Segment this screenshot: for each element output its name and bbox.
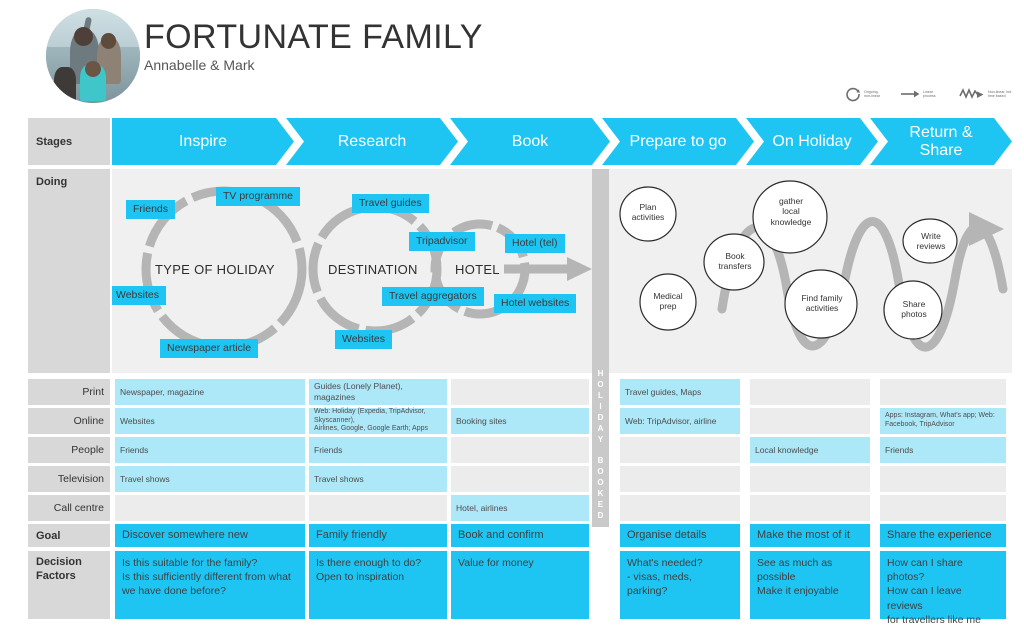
source-cell[interactable]: Hotel, airlines xyxy=(451,495,589,521)
sources-channel-online: Online xyxy=(28,408,110,434)
legend-item-nonlinear-timed: Non-linear, but time based xyxy=(959,87,1014,101)
stage-prepare-to-go[interactable]: Prepare to go xyxy=(602,118,754,165)
legend-label: Ongoing, non-linear xyxy=(864,90,890,99)
source-cell[interactable] xyxy=(750,379,870,405)
sources-channel-call-centre: Call centre xyxy=(28,495,110,521)
divider-letter: O xyxy=(597,466,603,477)
doing-panel: TYPE OF HOLIDAY DESTINATION HOTEL Friend… xyxy=(112,169,1012,373)
stage-label: Return & Share xyxy=(909,124,972,159)
divider-letter: K xyxy=(598,488,604,499)
source-cell[interactable] xyxy=(880,379,1006,405)
decision-factor-cell[interactable]: Is there enough to do? Open to inspirati… xyxy=(309,551,447,619)
divider-letter: H xyxy=(598,368,604,379)
legend-item-ongoing: Ongoing, non-linear xyxy=(845,86,890,102)
stage-label: Book xyxy=(512,133,548,151)
divider-letter: E xyxy=(598,499,603,510)
row-label-doing: Doing xyxy=(28,169,110,373)
divider-letter: D xyxy=(598,412,604,423)
row-label-goal: Goal xyxy=(28,524,110,547)
divider-letter: I xyxy=(599,401,601,412)
goal-cell[interactable]: Make the most of it xyxy=(750,524,870,547)
stage-inspire[interactable]: Inspire xyxy=(112,118,294,165)
goal-cell[interactable]: Discover somewhere new xyxy=(115,524,305,547)
decision-factor-cell[interactable]: Is this suitable for the family? Is this… xyxy=(115,551,305,619)
source-cell[interactable] xyxy=(880,495,1006,521)
wavy-arrow-icon xyxy=(959,87,985,101)
sources-channel-people: People xyxy=(28,437,110,463)
source-cell[interactable]: Local knowledge xyxy=(750,437,870,463)
source-cell[interactable]: Web: Holiday (Expedia, TripAdvisor, Skys… xyxy=(309,408,447,434)
row-label-stages: Stages xyxy=(28,118,110,165)
stage-label: Prepare to go xyxy=(630,133,727,151)
decision-factor-cell[interactable]: Value for money xyxy=(451,551,589,619)
stage-return-and-share[interactable]: Return & Share xyxy=(870,118,1012,165)
page-header: FORTUNATE FAMILY Annabelle & Mark Ongoin… xyxy=(0,0,1024,112)
legend: Ongoing, non-linear Linear process Non-l… xyxy=(845,86,1014,102)
holiday-booked-divider: H O L I D A Y B O O K E D xyxy=(592,169,609,527)
divider-letter: O xyxy=(597,477,603,488)
source-cell[interactable]: Newspaper, magazine xyxy=(115,379,305,405)
source-cell[interactable] xyxy=(115,495,305,521)
stage-label: Research xyxy=(338,133,406,151)
divider-letter: L xyxy=(598,390,603,401)
circular-arrow-icon xyxy=(845,86,861,102)
source-cell[interactable]: Websites xyxy=(115,408,305,434)
decision-factor-cell[interactable]: What's needed? - visas, meds, parking? xyxy=(620,551,740,619)
stage-on-holiday[interactable]: On Holiday xyxy=(746,118,878,165)
divider-letter: O xyxy=(597,379,603,390)
stage-label: On Holiday xyxy=(772,133,851,151)
source-cell[interactable] xyxy=(451,466,589,492)
source-cell[interactable] xyxy=(620,495,740,521)
source-cell[interactable]: Booking sites xyxy=(451,408,589,434)
source-cell[interactable]: Friends xyxy=(880,437,1006,463)
legend-label: Linear process xyxy=(923,90,949,99)
source-cell[interactable] xyxy=(750,408,870,434)
sources-channel-television: Television xyxy=(28,466,110,492)
stage-book[interactable]: Book xyxy=(450,118,610,165)
source-cell[interactable]: Travel guides, Maps xyxy=(620,379,740,405)
source-cell[interactable] xyxy=(880,466,1006,492)
stage-label: Inspire xyxy=(179,133,227,151)
source-cell[interactable]: Travel shows xyxy=(309,466,447,492)
stage-research[interactable]: Research xyxy=(286,118,458,165)
source-cell[interactable]: Guides (Lonely Planet), magazines xyxy=(309,379,447,405)
source-cell[interactable]: Web: TripAdvisor, airline xyxy=(620,408,740,434)
source-cell[interactable] xyxy=(451,379,589,405)
decision-factor-cell[interactable]: See as much as possible Make it enjoyabl… xyxy=(750,551,870,619)
source-cell[interactable]: Travel shows xyxy=(115,466,305,492)
source-cell[interactable] xyxy=(620,466,740,492)
decision-factor-cell[interactable]: How can I share photos? How can I leave … xyxy=(880,551,1006,619)
straight-arrow-icon xyxy=(900,88,920,100)
legend-label: Non-linear, but time based xyxy=(988,90,1014,99)
divider-letter: B xyxy=(598,455,604,466)
source-cell[interactable] xyxy=(750,495,870,521)
source-cell[interactable] xyxy=(620,437,740,463)
page-subtitle: Annabelle & Mark xyxy=(144,57,255,73)
goal-cell[interactable]: Organise details xyxy=(620,524,740,547)
activity-circles xyxy=(112,169,1012,373)
source-cell[interactable] xyxy=(750,466,870,492)
row-label-text: Decision Factors xyxy=(36,556,82,584)
page-title: FORTUNATE FAMILY xyxy=(144,18,483,57)
goal-cell[interactable]: Share the experience xyxy=(880,524,1006,547)
avatar xyxy=(46,9,140,103)
row-label-decision-factors: Decision Factors xyxy=(28,551,110,619)
source-cell[interactable]: Friends xyxy=(309,437,447,463)
goal-cell[interactable]: Book and confirm xyxy=(451,524,589,547)
legend-item-linear: Linear process xyxy=(900,88,949,100)
divider-letter: A xyxy=(598,423,604,434)
source-cell[interactable] xyxy=(309,495,447,521)
divider-letter: D xyxy=(598,510,604,521)
source-cell[interactable] xyxy=(451,437,589,463)
source-cell[interactable]: Apps: Instagram, What's app; Web: Facebo… xyxy=(880,408,1006,434)
divider-letter: Y xyxy=(598,434,603,445)
source-cell[interactable]: Friends xyxy=(115,437,305,463)
goal-cell[interactable]: Family friendly xyxy=(309,524,447,547)
sources-channel-print: Print xyxy=(28,379,110,405)
